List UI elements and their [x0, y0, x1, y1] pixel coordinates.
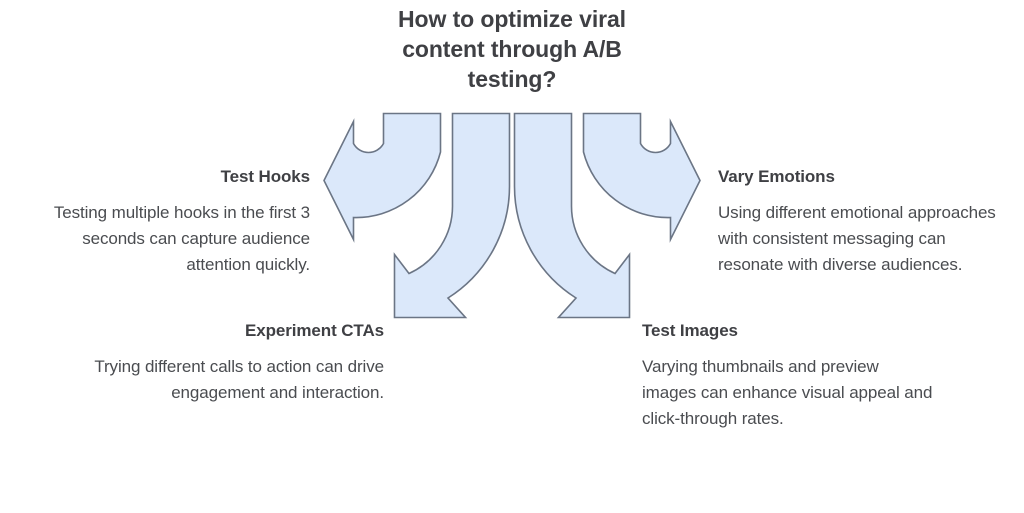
title-line-1: How to optimize viral	[332, 4, 692, 34]
branch-description-experiment-ctas: Trying different calls to action can dri…	[90, 354, 384, 406]
branch-description-test-hooks: Testing multiple hooks in the first 3 se…	[18, 200, 310, 278]
arrow-down-left	[395, 114, 510, 318]
branch-label-vary-emotions: Vary Emotions	[718, 166, 1010, 188]
page-title: How to optimize viral content through A/…	[332, 4, 692, 94]
diagram-canvas: How to optimize viral content through A/…	[0, 0, 1024, 513]
arrow-down-right	[514, 114, 629, 318]
branch-label-experiment-ctas: Experiment CTAs	[90, 320, 384, 342]
branch-test-hooks: Test Hooks Testing multiple hooks in the…	[18, 166, 310, 278]
title-line-3: testing?	[332, 64, 692, 94]
arrow-right	[584, 114, 701, 240]
branch-description-vary-emotions: Using different emotional approaches wit…	[718, 200, 1010, 278]
branch-experiment-ctas: Experiment CTAs Trying different calls t…	[90, 320, 384, 406]
branch-description-test-images: Varying thumbnails and preview images ca…	[642, 354, 934, 432]
branch-vary-emotions: Vary Emotions Using different emotional …	[718, 166, 1010, 278]
arrow-left	[324, 114, 441, 240]
branch-test-images: Test Images Varying thumbnails and previ…	[642, 320, 934, 432]
branch-label-test-images: Test Images	[642, 320, 934, 342]
title-line-2: content through A/B	[332, 34, 692, 64]
branch-label-test-hooks: Test Hooks	[18, 166, 310, 188]
